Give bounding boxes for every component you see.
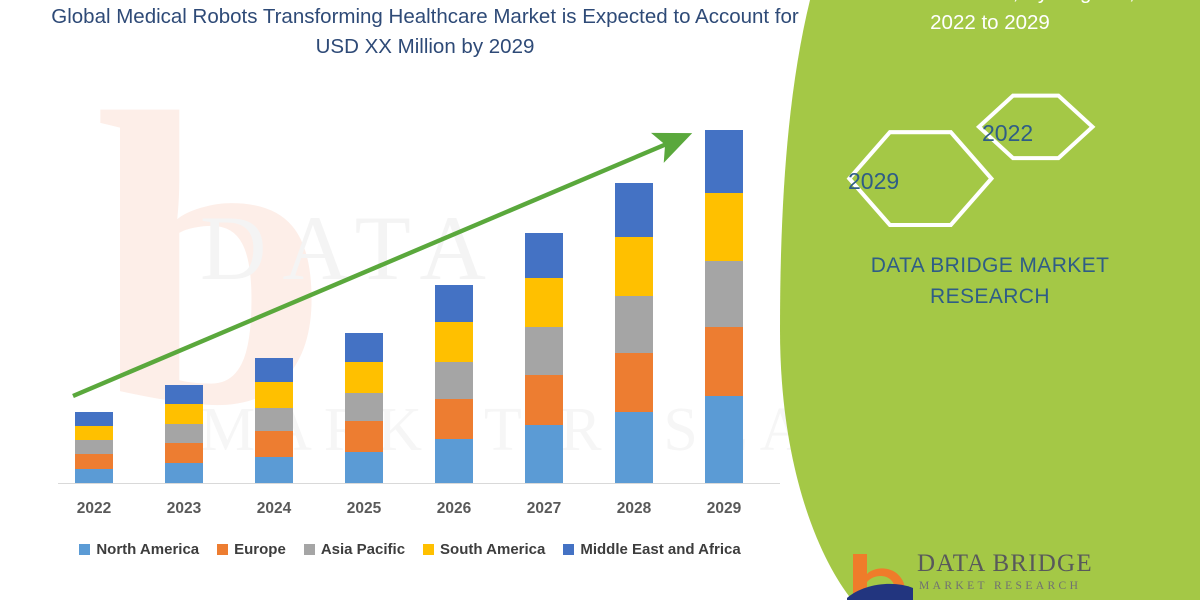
legend-label: North America xyxy=(96,541,199,558)
data-bridge-logo: DATA BRIDGE MARKET RESEARCH xyxy=(845,552,1185,600)
x-axis-label-2022: 2022 xyxy=(54,500,134,518)
bar-segment[interactable] xyxy=(345,393,383,421)
bar-segment[interactable] xyxy=(435,399,473,439)
bar-segment[interactable] xyxy=(435,439,473,483)
x-axis-label-2024: 2024 xyxy=(234,500,314,518)
bar-2023[interactable] xyxy=(165,385,203,483)
bar-segment[interactable] xyxy=(525,375,563,425)
bar-segment[interactable] xyxy=(435,285,473,322)
right-green-panel: Healthcare Market, By Regions, 2022 to 2… xyxy=(780,0,1200,600)
x-axis-line xyxy=(58,483,780,484)
bar-segment[interactable] xyxy=(525,425,563,483)
bar-segment[interactable] xyxy=(75,454,113,469)
bar-segment[interactable] xyxy=(345,362,383,393)
bar-segment[interactable] xyxy=(615,237,653,296)
hexagon-shapes xyxy=(800,80,1180,240)
logo-subwordmark: MARKET RESEARCH xyxy=(919,580,1081,592)
bar-segment[interactable] xyxy=(705,327,743,396)
bar-segment[interactable] xyxy=(165,404,203,424)
legend-swatch-icon xyxy=(79,544,90,555)
bar-segment[interactable] xyxy=(255,358,293,382)
bar-segment[interactable] xyxy=(165,463,203,483)
legend-label: South America xyxy=(440,541,545,558)
legend-label: Asia Pacific xyxy=(321,541,405,558)
bar-segment[interactable] xyxy=(165,385,203,404)
bar-segment[interactable] xyxy=(75,469,113,483)
bar-segment[interactable] xyxy=(705,193,743,261)
legend-swatch-icon xyxy=(563,544,574,555)
bar-segment[interactable] xyxy=(165,424,203,443)
bar-segment[interactable] xyxy=(705,261,743,327)
brand-line-2: RESEARCH xyxy=(790,281,1190,312)
bar-2028[interactable] xyxy=(615,183,653,483)
legend-label: Europe xyxy=(234,541,286,558)
legend-item[interactable]: Europe xyxy=(217,541,286,558)
legend-swatch-icon xyxy=(423,544,434,555)
bar-segment[interactable] xyxy=(525,233,563,278)
legend-label: Middle East and Africa xyxy=(580,541,740,558)
bar-segment[interactable] xyxy=(615,412,653,483)
green-panel-title: Healthcare Market, By Regions, 2022 to 2… xyxy=(820,0,1160,38)
bar-segment[interactable] xyxy=(615,353,653,412)
bar-2025[interactable] xyxy=(345,333,383,483)
bar-segment[interactable] xyxy=(75,412,113,426)
bar-2024[interactable] xyxy=(255,358,293,483)
bar-segment[interactable] xyxy=(345,452,383,483)
bar-segment[interactable] xyxy=(705,130,743,193)
bar-segment[interactable] xyxy=(255,382,293,408)
bar-segment[interactable] xyxy=(165,443,203,463)
bar-segment[interactable] xyxy=(435,362,473,399)
legend-item[interactable]: North America xyxy=(79,541,199,558)
bar-segment[interactable] xyxy=(255,457,293,483)
hexagon-label-2029: 2029 xyxy=(848,168,899,195)
x-axis-label-2025: 2025 xyxy=(324,500,404,518)
bar-segment[interactable] xyxy=(255,431,293,457)
legend-item[interactable]: Asia Pacific xyxy=(304,541,405,558)
x-axis-label-2028: 2028 xyxy=(594,500,674,518)
bar-segment[interactable] xyxy=(255,408,293,431)
x-axis-label-2027: 2027 xyxy=(504,500,584,518)
bar-segment[interactable] xyxy=(525,327,563,375)
bar-segment[interactable] xyxy=(525,278,563,327)
x-axis-label-2026: 2026 xyxy=(414,500,494,518)
legend-swatch-icon xyxy=(217,544,228,555)
bar-segment[interactable] xyxy=(75,426,113,440)
brand-line-1: DATA BRIDGE MARKET xyxy=(790,250,1190,281)
bar-segment[interactable] xyxy=(615,183,653,237)
legend-item[interactable]: Middle East and Africa xyxy=(563,541,740,558)
x-axis-label-2029: 2029 xyxy=(684,500,764,518)
x-axis-label-2023: 2023 xyxy=(144,500,224,518)
bar-2029[interactable] xyxy=(705,130,743,483)
infographic-root: b DATA MARKET RESEARCH Global Medical Ro… xyxy=(0,0,1200,600)
bar-segment[interactable] xyxy=(345,421,383,452)
bar-segment[interactable] xyxy=(345,333,383,362)
bar-2022[interactable] xyxy=(75,412,113,483)
legend-swatch-icon xyxy=(304,544,315,555)
bar-segment[interactable] xyxy=(435,322,473,362)
hexagon-label-2022: 2022 xyxy=(982,120,1033,147)
brand-name: DATA BRIDGE MARKET RESEARCH xyxy=(790,250,1190,312)
bar-segment[interactable] xyxy=(705,396,743,483)
chart-legend: North AmericaEuropeAsia PacificSouth Ame… xyxy=(0,541,820,558)
logo-wordmark: DATA BRIDGE xyxy=(917,550,1093,578)
bar-2026[interactable] xyxy=(435,285,473,483)
logo-mark-icon xyxy=(845,552,915,600)
stacked-bar-chart: 20222023202420252026202720282029 North A… xyxy=(0,0,820,600)
bar-segment[interactable] xyxy=(75,440,113,454)
hexagon-group: 2029 2022 xyxy=(800,80,1180,240)
legend-item[interactable]: South America xyxy=(423,541,545,558)
bar-segment[interactable] xyxy=(615,296,653,353)
bar-2027[interactable] xyxy=(525,233,563,483)
